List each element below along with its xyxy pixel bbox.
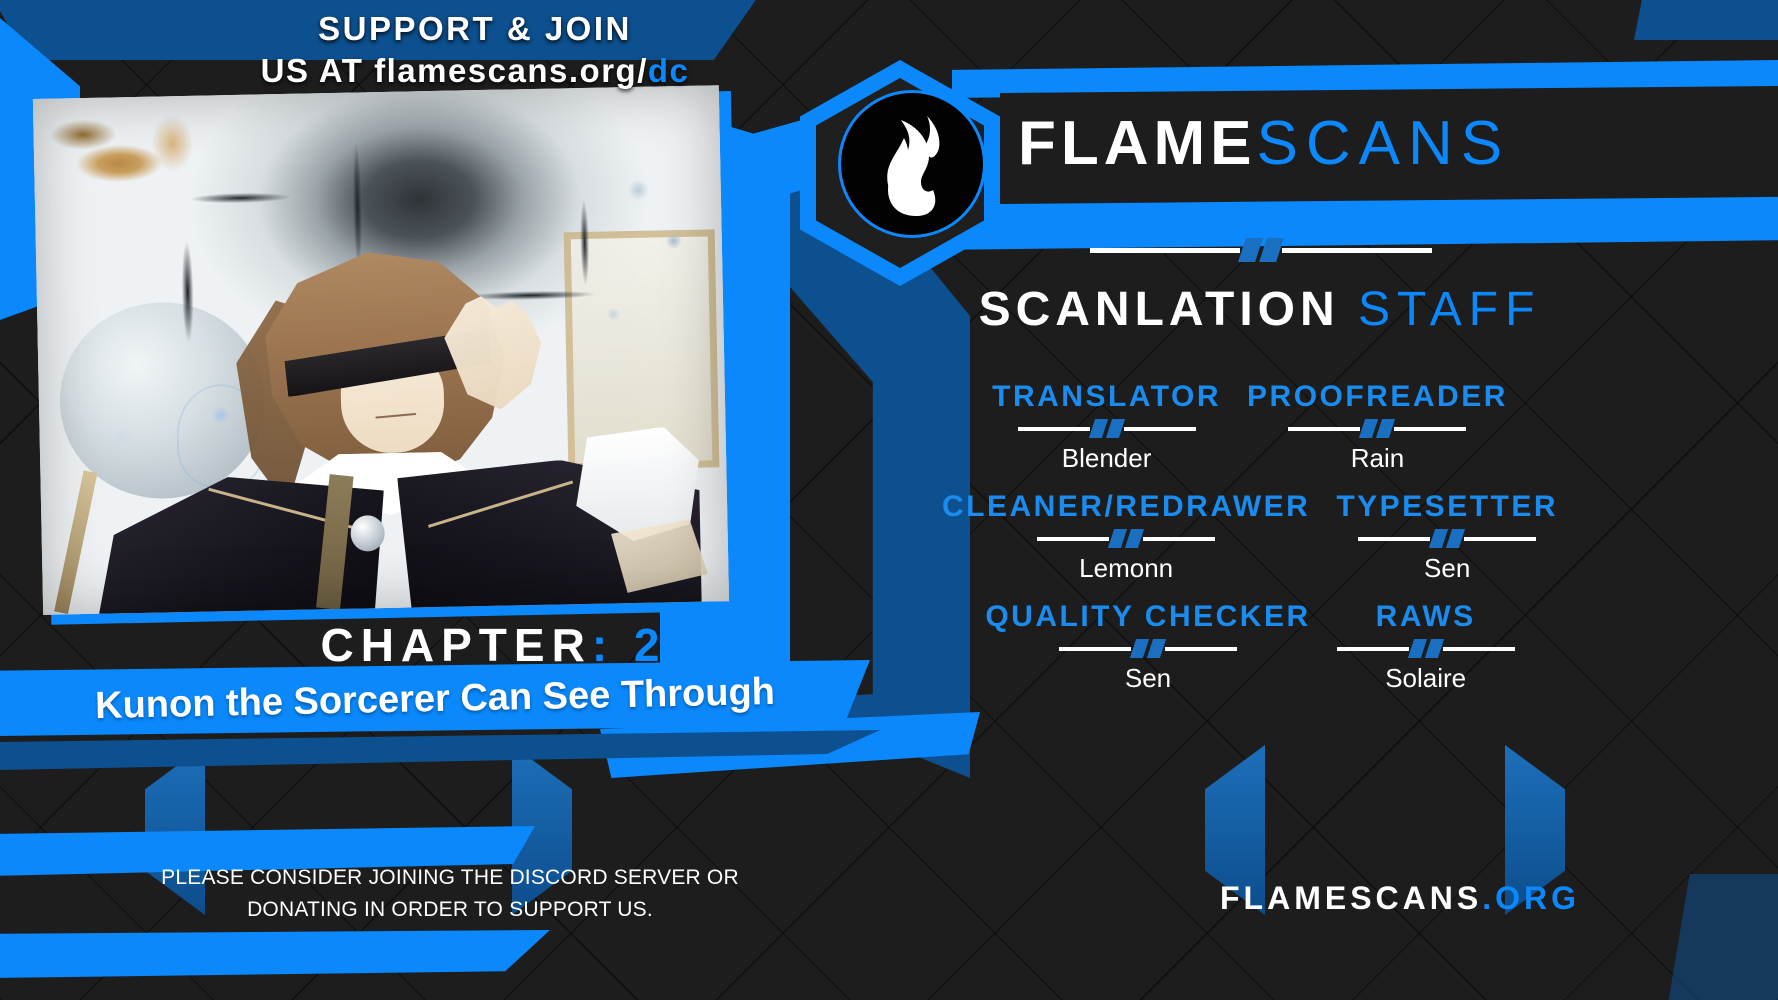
divider-slash-1 (1088, 419, 1107, 438)
top-right-corner-slab (1634, 0, 1778, 40)
divider-slash-1 (1108, 529, 1127, 548)
staff-row: TRANSLATOR Blender PROOFREADER Rain (900, 380, 1600, 474)
footer-note: PLEASE CONSIDER JOINING THE DISCORD SERV… (120, 862, 780, 926)
divider-slash-1 (1429, 529, 1448, 548)
staff-role-label: TYPESETTER (1336, 490, 1558, 524)
divider-slash-2 (1446, 529, 1465, 548)
divider-line-left (1090, 248, 1240, 253)
staff-role-label: PROOFREADER (1247, 380, 1508, 414)
staff-cell-translator: TRANSLATOR Blender (992, 380, 1221, 474)
footer-note-line2: DONATING IN ORDER TO SUPPORT US. (120, 894, 780, 926)
divider-line-left (1018, 427, 1090, 431)
divider-line-left (1037, 537, 1109, 541)
staff-title-scanlation: SCANLATION (979, 283, 1340, 336)
staff-member-name: Sen (985, 662, 1310, 694)
staff-role-divider (1247, 419, 1508, 438)
credits-page: SUPPORT & JOIN US AT flamescans.org/dc (0, 0, 1778, 1000)
site-url[interactable]: FLAMESCANS.ORG (1050, 880, 1750, 917)
divider-slash-2 (1147, 639, 1166, 658)
logo-circle (838, 90, 986, 238)
bottom-left-ribbon (0, 930, 550, 978)
divider-slash-2 (1259, 238, 1284, 262)
staff-row: QUALITY CHECKER Sen RAWS Solaire (900, 600, 1600, 694)
divider-line-right (1124, 427, 1196, 431)
staff-role-divider (1336, 529, 1558, 548)
divider-line-right (1143, 537, 1215, 541)
site-url-name: FLAMESCANS (1220, 880, 1482, 916)
divider-slash-1 (1130, 639, 1149, 658)
staff-section-title: SCANLATION STAFF (940, 282, 1580, 337)
staff-member-name: Sen (1336, 552, 1558, 584)
divider-slash-2 (1105, 419, 1124, 438)
logo-title-flame: FLAME (1018, 109, 1257, 178)
site-url-tld: .ORG (1482, 880, 1580, 916)
support-header-url-accent: dc (648, 52, 690, 89)
divider-line-right (1394, 427, 1466, 431)
cover-art-illustration (33, 85, 729, 615)
staff-cell-cleaner-redrawer: CLEANER/REDRAWER Lemonn (942, 490, 1310, 584)
staff-cell-raws: RAWS Solaire (1337, 600, 1515, 694)
support-header-line2: US AT flamescans.org/dc (215, 50, 735, 92)
staff-role-label: QUALITY CHECKER (985, 600, 1310, 634)
staff-role-divider (985, 639, 1310, 658)
staff-grid: TRANSLATOR Blender PROOFREADER Rain (900, 380, 1600, 710)
staff-role-divider (1337, 639, 1515, 658)
staff-row: CLEANER/REDRAWER Lemonn TYPESETTER Sen (900, 490, 1600, 584)
divider-line-right (1282, 248, 1432, 253)
staff-role-label: RAWS (1337, 600, 1515, 634)
support-header-line1: SUPPORT & JOIN (215, 8, 735, 50)
divider-line-left (1288, 427, 1360, 431)
divider-slash-1 (1408, 639, 1427, 658)
staff-cell-typesetter: TYPESETTER Sen (1336, 490, 1558, 584)
divider-line-right (1165, 647, 1237, 651)
staff-cell-quality-checker: QUALITY CHECKER Sen (985, 600, 1310, 694)
staff-member-name: Lemonn (942, 552, 1310, 584)
staff-role-label: CLEANER/REDRAWER (942, 490, 1310, 524)
logo-title: FLAMESCANS (1018, 84, 1778, 204)
divider-slash-2 (1125, 529, 1144, 548)
staff-title-staff: STAFF (1358, 283, 1541, 336)
divider-slash-2 (1425, 639, 1444, 658)
divider-line-right (1464, 537, 1536, 541)
divider-line-left (1337, 647, 1409, 651)
flame-icon (875, 112, 949, 216)
divider-line-right (1443, 647, 1515, 651)
staff-member-name: Solaire (1337, 662, 1515, 694)
staff-role-divider (992, 419, 1221, 438)
support-header-url: US AT flamescans.org/ (261, 52, 648, 89)
support-header: SUPPORT & JOIN US AT flamescans.org/dc (215, 8, 735, 92)
divider-line-left (1059, 647, 1131, 651)
staff-member-name: Blender (992, 442, 1221, 474)
staff-cell-proofreader: PROOFREADER Rain (1247, 380, 1508, 474)
staff-role-label: TRANSLATOR (992, 380, 1221, 414)
logo-title-scans: SCANS (1257, 109, 1511, 178)
cover-art-image (33, 85, 729, 615)
staff-role-divider (942, 529, 1310, 548)
divider-slash-2 (1376, 419, 1395, 438)
cover-art-panel (33, 85, 733, 619)
divider-line-left (1358, 537, 1430, 541)
staff-member-name: Rain (1247, 442, 1508, 474)
footer-note-line1: PLEASE CONSIDER JOINING THE DISCORD SERV… (120, 862, 780, 894)
section-divider (1035, 238, 1487, 262)
